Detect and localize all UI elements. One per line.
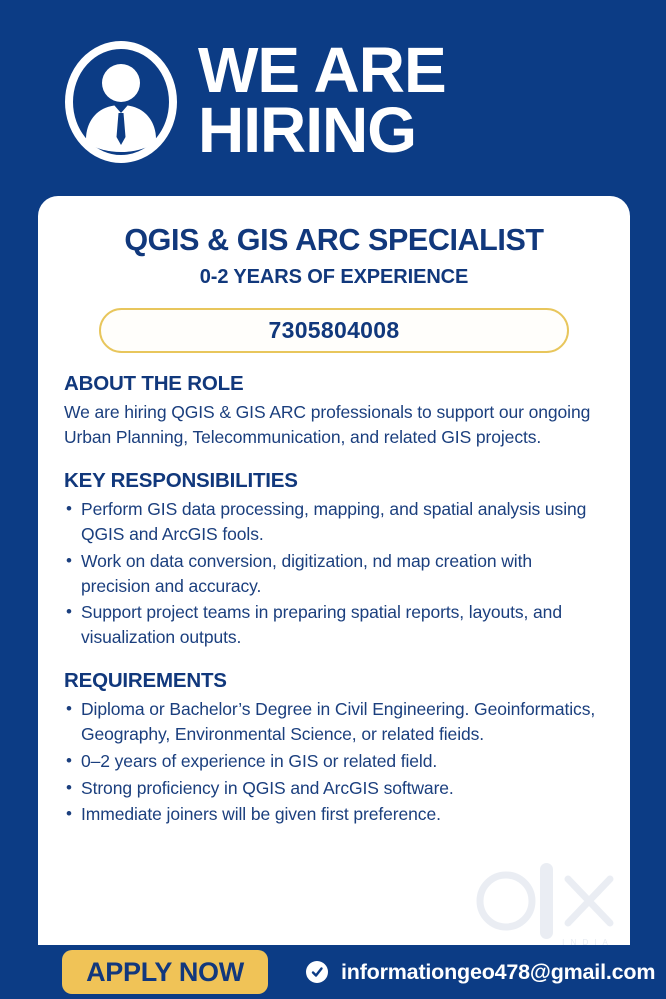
olx-watermark-icon: I N D I A	[474, 857, 624, 945]
list-item: Immediate joiners will be given first pr…	[64, 802, 604, 827]
check-badge-icon	[306, 961, 328, 983]
section-key-responsibilities: KEY RESPONSIBILITIES Perform GIS data pr…	[64, 469, 604, 650]
person-in-suit-circle-icon	[62, 39, 180, 165]
job-experience: 0-2 YEARS OF EXPERIENCE	[64, 266, 604, 289]
hero-line-1: WE ARE	[198, 40, 446, 100]
hero-line-2: HIRING	[198, 100, 446, 160]
list-item: 0–2 years of experience in GIS or relate…	[64, 749, 604, 774]
job-title: QGIS & GIS ARC SPECIALIST	[64, 224, 604, 256]
phone-number-box[interactable]: 7305804008	[99, 308, 569, 353]
list-item: Diploma or Bachelor’s Degree in Civil En…	[64, 697, 604, 747]
job-details-card: I N D I A QGIS & GIS ARC SPECIALIST 0-2 …	[38, 196, 630, 945]
olx-watermark-sub: I N D I A	[562, 938, 610, 945]
poster-header: WE ARE HIRING	[0, 0, 666, 196]
poster-footer: APPLY NOW informationgeo478@gmail.com	[0, 945, 666, 999]
section-about-the-role: ABOUT THE ROLE We are hiring QGIS & GIS …	[64, 372, 604, 450]
requirements-list: Diploma or Bachelor’s Degree in Civil En…	[64, 697, 604, 827]
list-item: Strong proficiency in QGIS and ArcGIS so…	[64, 776, 604, 801]
responsibilities-list: Perform GIS data processing, mapping, an…	[64, 497, 604, 650]
contact-email: informationgeo478@gmail.com	[341, 960, 655, 985]
list-item: Perform GIS data processing, mapping, an…	[64, 497, 604, 547]
section-requirements: REQUIREMENTS Diploma or Bachelor’s Degre…	[64, 669, 604, 827]
apply-now-button[interactable]: APPLY NOW	[62, 950, 268, 994]
list-item: Work on data conversion, digitization, n…	[64, 549, 604, 599]
section-heading-responsibilities: KEY RESPONSIBILITIES	[64, 469, 604, 493]
list-item: Support project teams in preparing spati…	[64, 600, 604, 650]
phone-number: 7305804008	[269, 317, 400, 344]
contact-email-row[interactable]: informationgeo478@gmail.com	[306, 960, 655, 985]
section-heading-requirements: REQUIREMENTS	[64, 669, 604, 693]
section-heading-about: ABOUT THE ROLE	[64, 372, 604, 396]
hero-headline: WE ARE HIRING	[198, 40, 446, 160]
about-paragraph: We are hiring QGIS & GIS ARC professiona…	[64, 400, 604, 450]
